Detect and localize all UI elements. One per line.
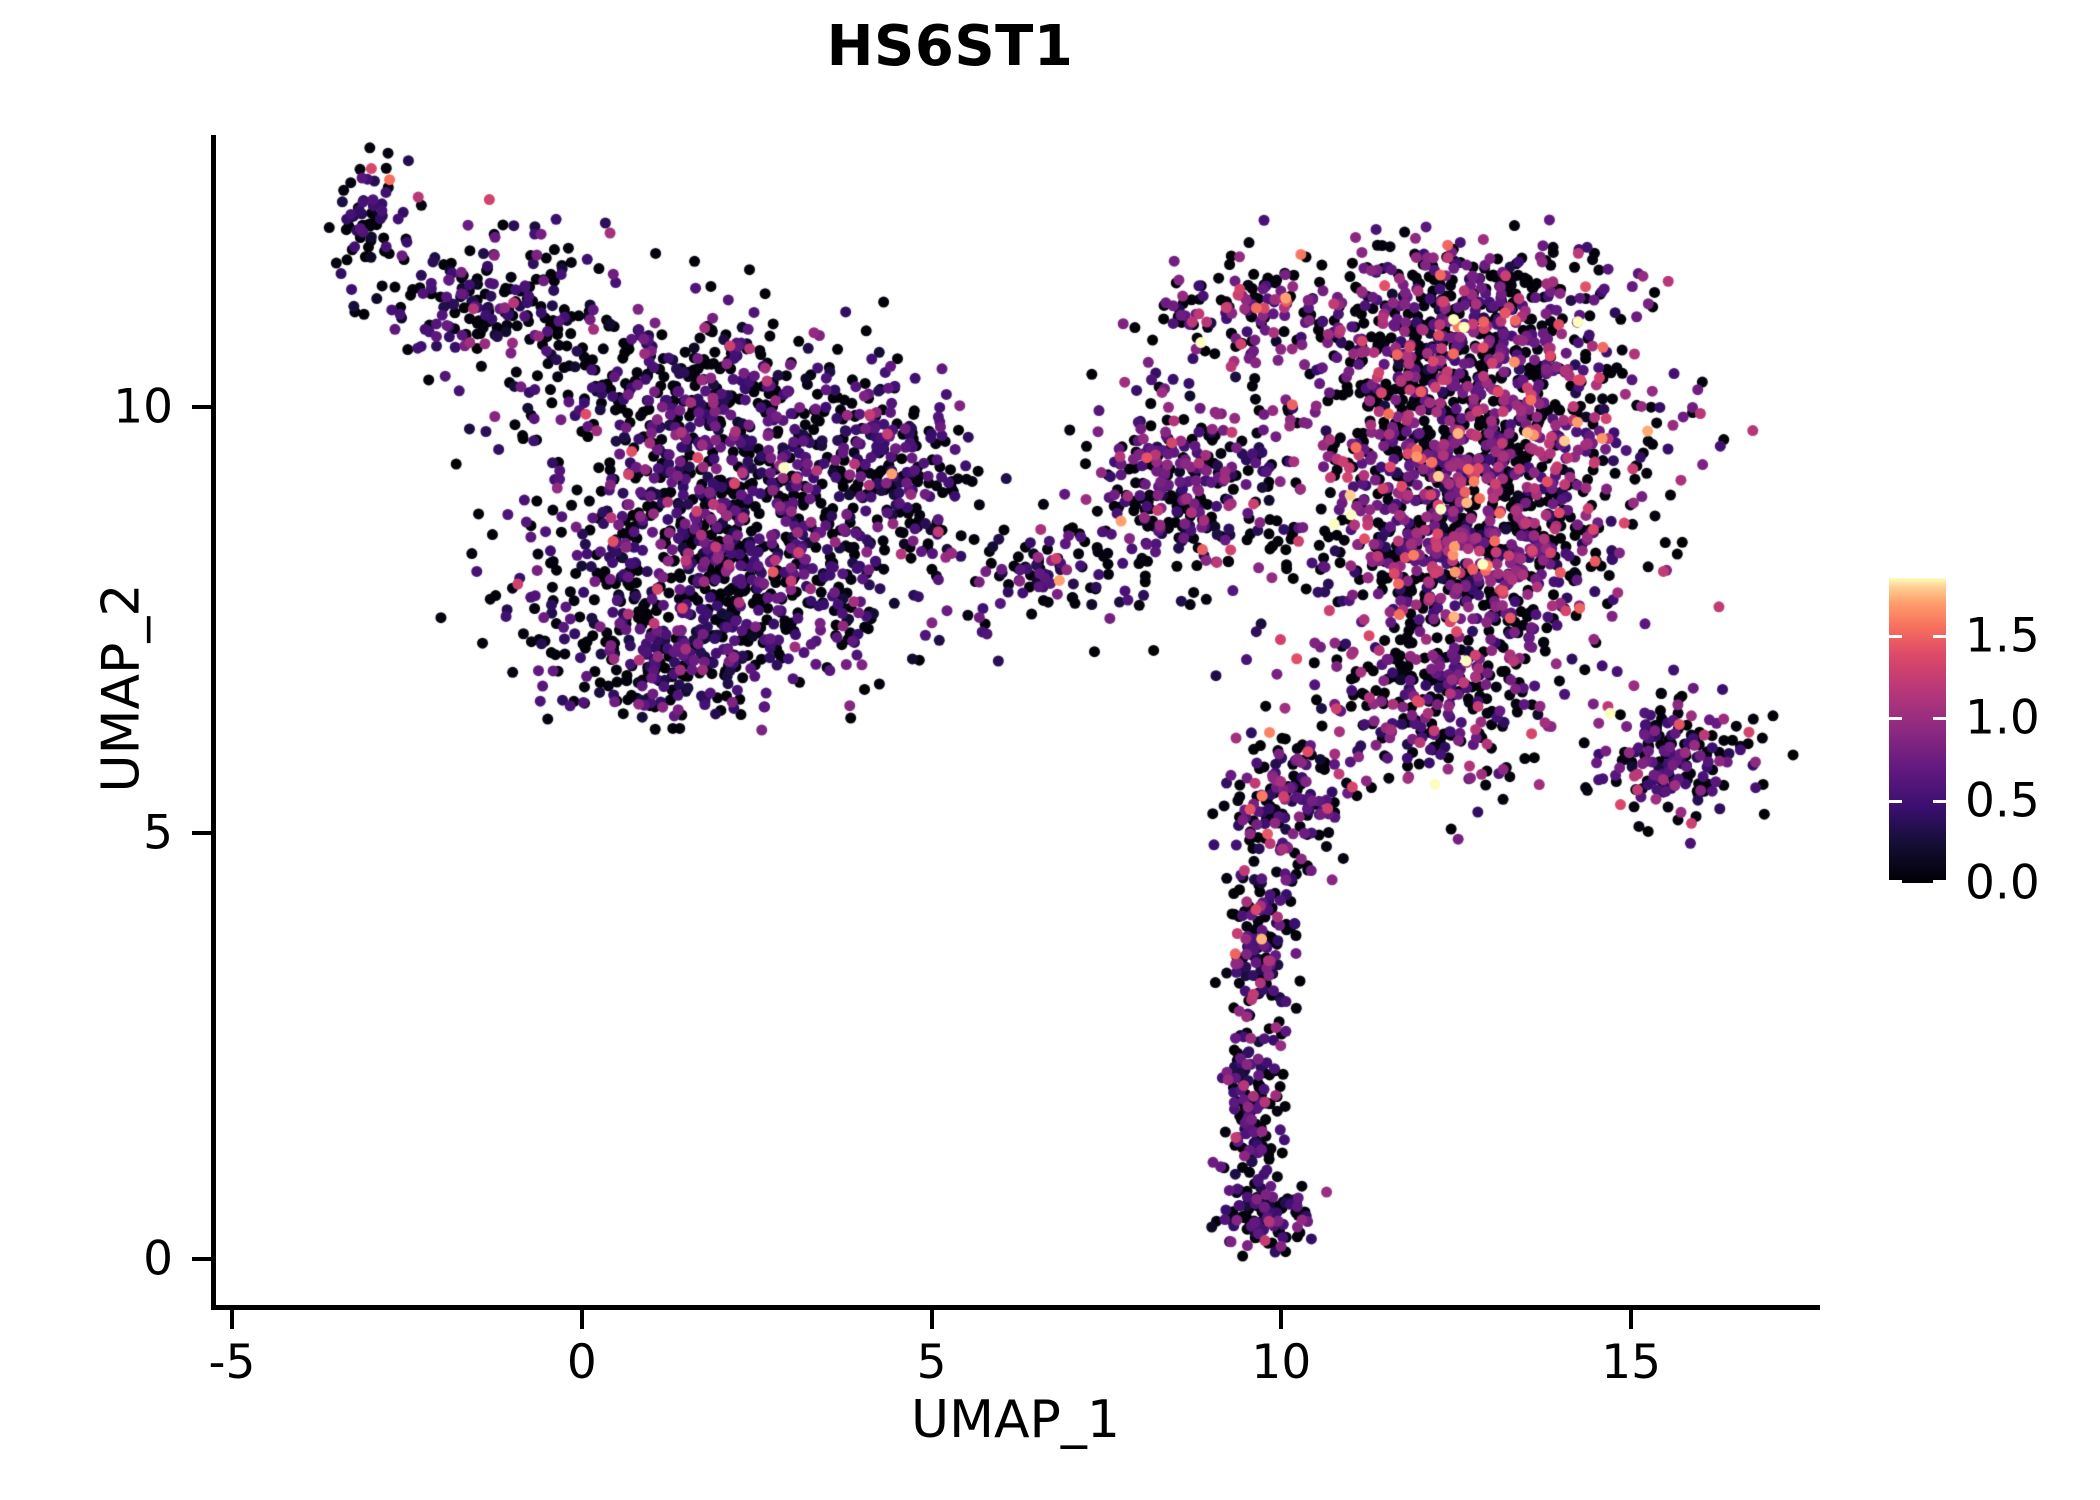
y-axis-label: UMAP_2 [92, 101, 152, 1276]
colorbar-tick-label: 0.5 [1965, 773, 2040, 828]
colorbar-tick-label: 1.5 [1965, 608, 2040, 663]
x-tick-mark [1279, 1310, 1283, 1329]
x-tick-label: 10 [1251, 1335, 1311, 1390]
y-tick-mark [192, 831, 211, 835]
x-tick-mark [1629, 1310, 1633, 1329]
x-tick-mark [580, 1310, 584, 1329]
page-title: HS6ST1 [0, 14, 1900, 79]
y-tick-mark [192, 1257, 211, 1261]
x-axis-spine [211, 1305, 1820, 1310]
y-axis-spine [211, 135, 216, 1310]
x-tick-mark [930, 1310, 934, 1329]
colorbar: 0.00.51.01.5 [1889, 578, 2069, 888]
plot-axes: -5051015 0510 [211, 135, 1820, 1310]
x-tick-label: 5 [917, 1335, 947, 1390]
scatter-points-canvas [211, 135, 1820, 1310]
x-tick-mark [230, 1310, 234, 1329]
umap-feature-plot: HS6ST1 -5051015 0510 UMAP_1 UMAP_2 0.00.… [0, 0, 2100, 1500]
x-tick-label: 0 [567, 1335, 597, 1390]
colorbar-tick-label: 0.0 [1965, 856, 2040, 911]
y-tick-mark [192, 405, 211, 409]
colorbar-gradient [1889, 578, 1946, 883]
x-tick-label: -5 [209, 1335, 256, 1390]
x-tick-label: 15 [1601, 1335, 1661, 1390]
x-axis-label: UMAP_1 [211, 1390, 1820, 1450]
colorbar-tick-label: 1.0 [1965, 691, 2040, 746]
